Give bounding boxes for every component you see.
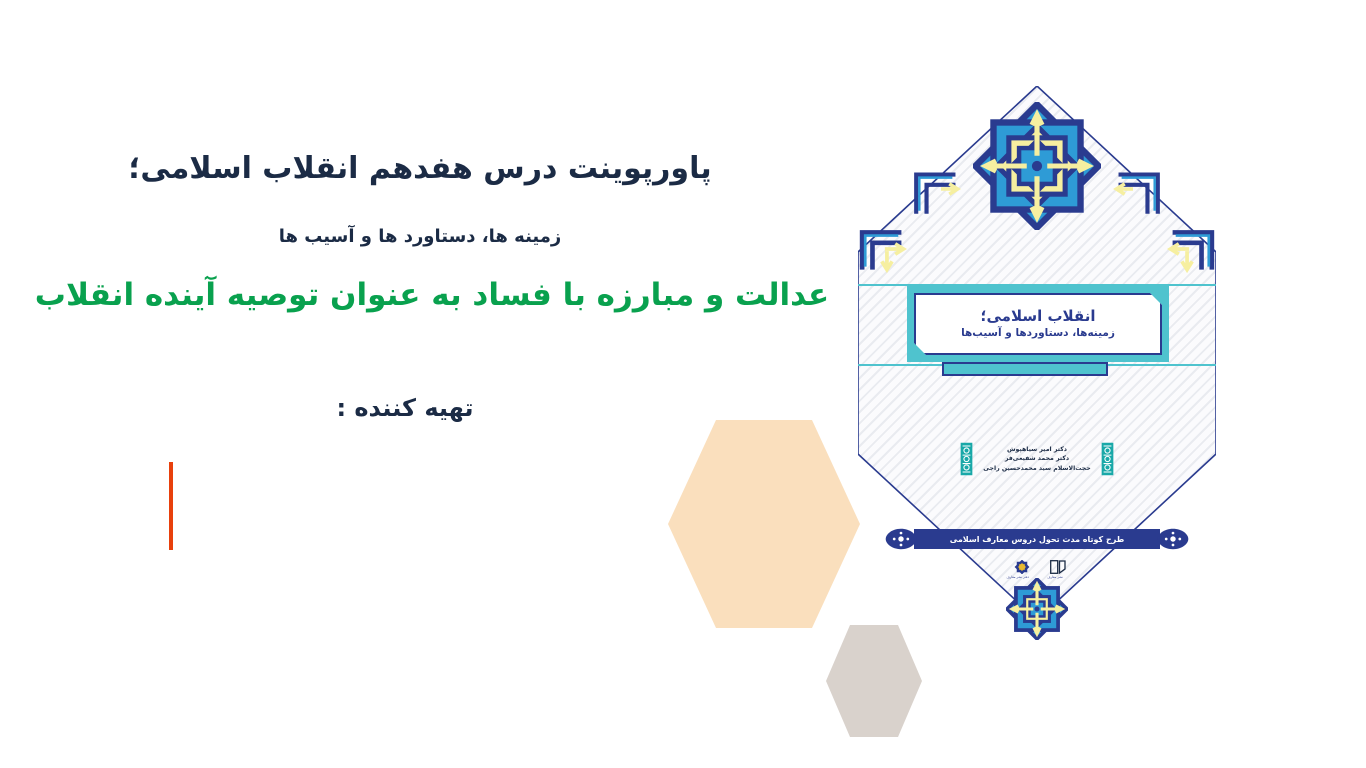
cover-author: حجت‌الاسلام سید محمدحسین راجی <box>983 464 1090 474</box>
presentation-slide: پاورپوینت درس هفدهم انقلاب اسلامی؛ زمینه… <box>0 0 1366 768</box>
medallion-icon <box>1014 560 1030 574</box>
slide-topic-heading[interactable]: عدالت و مبارزه با فساد به عنوان توصیه آی… <box>0 276 870 315</box>
banner-ornament-left <box>884 527 918 551</box>
text-cursor <box>169 462 173 550</box>
cover-plaque-tab <box>942 362 1108 376</box>
author-ornament-right <box>1101 442 1114 476</box>
cover-title-plaque: انقلاب اسلامی؛ زمینه‌ها، دستاوردها و آسی… <box>907 286 1169 362</box>
islamic-star-ornament-bottom <box>1006 578 1068 640</box>
cover-authors-list: دکتر امیر سیاهپوش دکتر محمد شفیعی‌فر حجت… <box>983 445 1090 474</box>
decorative-hexagon-gray <box>826 625 922 737</box>
cover-authors-group: دکتر امیر سیاهپوش دکتر محمد شفیعی‌فر حجت… <box>858 442 1216 476</box>
islamic-star-ornament-top <box>973 102 1101 230</box>
cover-author: دکتر امیر سیاهپوش <box>983 445 1090 455</box>
slide-credit-label[interactable]: تهیه کننده : <box>0 393 870 423</box>
cover-title-plaque-inner: انقلاب اسلامی؛ زمینه‌ها، دستاوردها و آسی… <box>914 293 1162 355</box>
banner-ornament-right <box>1156 527 1190 551</box>
cover-subtitle: زمینه‌ها، دستاوردها و آسیب‌ها <box>961 327 1115 340</box>
corner-ornament-right <box>1154 218 1216 280</box>
publisher-logo-book: نشر معارف <box>1044 560 1066 579</box>
cover-publisher-logos: نشر معارف دفتر نشر معارف <box>858 560 1216 579</box>
book-icon <box>1050 560 1066 574</box>
slide-title[interactable]: پاورپوینت درس هفدهم انقلاب اسلامی؛ <box>0 150 870 188</box>
cover-project-banner: طرح کوتاه مدت تحول دروس معارف اسلامی <box>884 526 1190 552</box>
slide-text-block[interactable]: پاورپوینت درس هفدهم انقلاب اسلامی؛ زمینه… <box>0 150 870 423</box>
corner-ornament-left <box>858 218 920 280</box>
decorative-hexagon-peach <box>668 420 860 628</box>
book-cover-image[interactable]: انقلاب اسلامی؛ زمینه‌ها، دستاوردها و آسی… <box>858 86 1216 620</box>
corner-ornament-top-left-inner <box>910 158 972 220</box>
corner-ornament-top-right-inner <box>1102 158 1164 220</box>
cover-title: انقلاب اسلامی؛ <box>981 308 1096 325</box>
slide-subtitle[interactable]: زمینه ها، دستاورد ها و آسیب ها <box>0 226 870 249</box>
cover-author: دکتر محمد شفیعی‌فر <box>983 454 1090 464</box>
publisher-logo-medallion: دفتر نشر معارف <box>1008 560 1030 579</box>
author-ornament-left <box>960 442 973 476</box>
cover-banner-text: طرح کوتاه مدت تحول دروس معارف اسلامی <box>950 535 1125 544</box>
